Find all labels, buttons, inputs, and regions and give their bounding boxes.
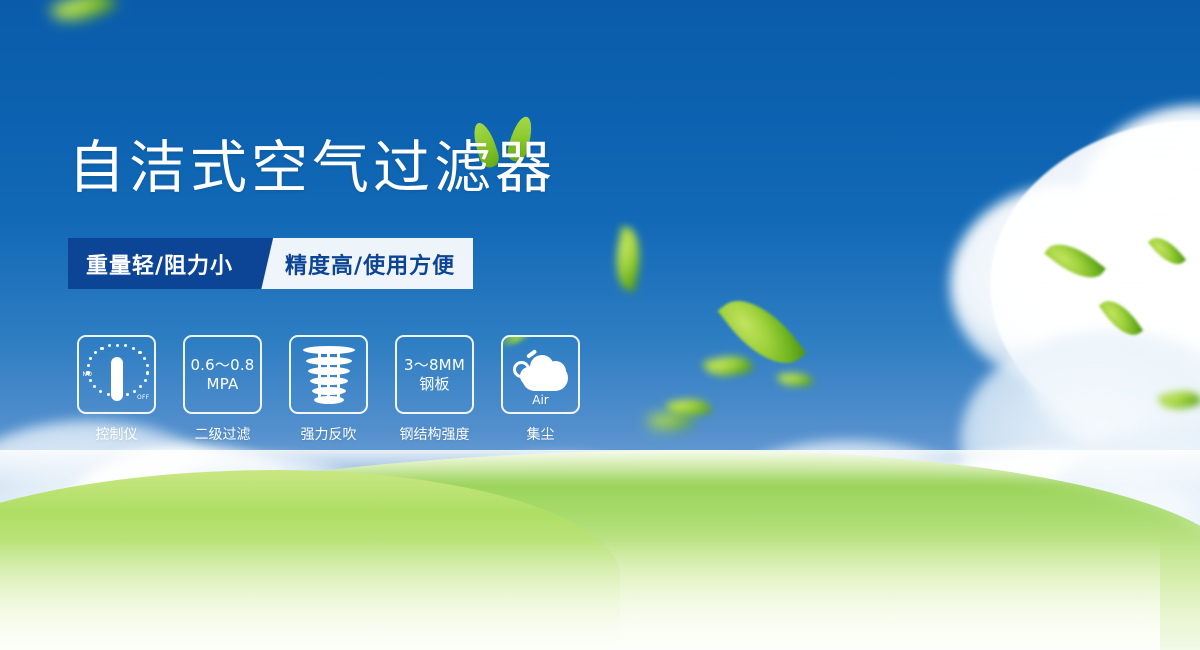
feature-label-dustcollect: 集尘 <box>527 424 555 444</box>
feature-item-pressure[interactable]: 0.6～0.8 MPA 二级过滤 <box>181 335 264 444</box>
subtitle-left-text: 重量轻/阻力小 <box>68 238 255 289</box>
subtitle-bar: 重量轻/阻力小 精度高/使用方便 <box>68 238 473 289</box>
page-title: 自洁式空气过滤器 <box>68 140 556 197</box>
filter-cartridge-icon <box>301 344 357 406</box>
subtitle-diagonal-divider <box>255 238 281 289</box>
feature-item-steel[interactable]: 3～8MM 钢板 钢结构强度 <box>393 335 476 444</box>
feature-label-steel: 钢结构强度 <box>400 424 470 444</box>
grass-foreground <box>0 540 1160 650</box>
feature-icon-box: 3～8MM 钢板 <box>395 335 474 414</box>
air-label: Air <box>510 393 572 407</box>
feature-icon-box: 0.6～0.8 MPA <box>183 335 262 414</box>
grass-field <box>0 450 1200 650</box>
pressure-unit: MPA <box>190 375 254 394</box>
product-banner: 自洁式空气过滤器 重量轻/阻力小 精度高/使用方便 <box>0 0 1200 650</box>
feature-icon-box: Air <box>501 335 580 414</box>
pressure-range: 0.6～0.8 <box>190 356 254 375</box>
pressure-value-icon: 0.6～0.8 MPA <box>190 356 254 394</box>
dial-needle <box>111 357 123 401</box>
feature-icon-box <box>289 335 368 414</box>
subtitle-right-text: 精度高/使用方便 <box>281 238 473 289</box>
air-cloud-icon: Air <box>510 347 572 403</box>
dial-off-label: OFF <box>137 394 150 401</box>
feature-label-pressure: 二级过滤 <box>195 424 251 444</box>
feature-item-control-dial[interactable]: NO OFF 控制仪 <box>75 335 158 444</box>
feature-label-backblow: 强力反吹 <box>301 424 357 444</box>
feature-list: NO OFF 控制仪 0.6～0.8 MPA 二级过滤 <box>75 335 582 444</box>
control-dial-icon: NO OFF <box>82 340 152 410</box>
leaf-icon-streak-bottom <box>547 410 580 414</box>
steel-thickness: 3～8MM <box>404 356 465 375</box>
cloud-body <box>522 365 568 391</box>
feature-icon-box: NO OFF <box>77 335 156 414</box>
steel-material: 钢板 <box>404 375 465 394</box>
dial-no-label: NO <box>83 371 93 378</box>
feature-label-control-dial: 控制仪 <box>96 424 138 444</box>
feature-item-dustcollect[interactable]: Air 集尘 <box>499 335 582 444</box>
steel-plate-icon: 3～8MM 钢板 <box>404 356 465 394</box>
feature-item-backblow[interactable]: 强力反吹 <box>287 335 370 444</box>
